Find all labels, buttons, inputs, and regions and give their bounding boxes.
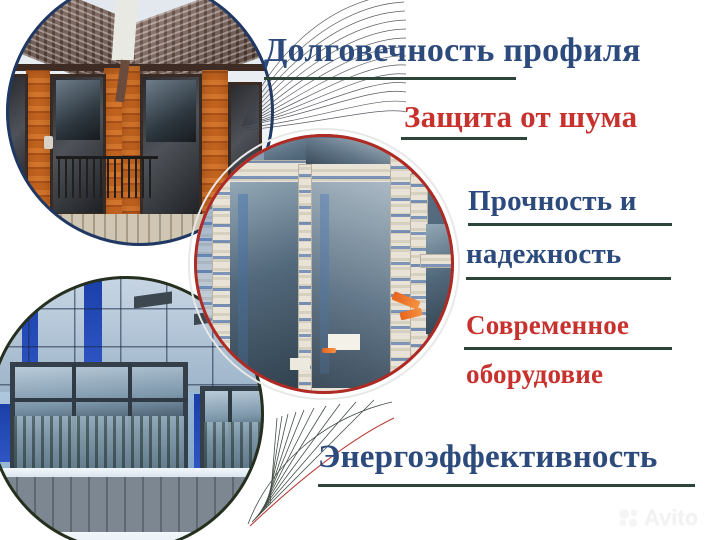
underline-energy-efficiency: [318, 484, 695, 487]
headline-energy-efficiency: Энергоэффективность: [318, 439, 658, 476]
headline-strength: Прочность и: [468, 185, 637, 218]
photo-veka-windows: [194, 134, 454, 394]
headline-equipment: оборудовие: [466, 359, 603, 390]
underline-noise-protection: [401, 137, 527, 140]
headline-noise-protection: Защита от шума: [404, 99, 637, 135]
underline-reliability: [466, 277, 671, 280]
poster-canvas: Долговечность профиля Защита от шума Про…: [0, 0, 720, 540]
avito-watermark: Avito: [618, 505, 698, 531]
headline-durability: Долговечность профиля: [264, 32, 641, 70]
avito-watermark-label: Avito: [644, 505, 698, 531]
underline-strength: [468, 223, 672, 226]
headline-modern: Современное: [466, 310, 629, 341]
headline-reliability: надежность: [466, 238, 621, 271]
underline-durability: [264, 77, 516, 80]
underline-modern: [464, 347, 672, 350]
avito-dots-icon: [618, 508, 640, 528]
